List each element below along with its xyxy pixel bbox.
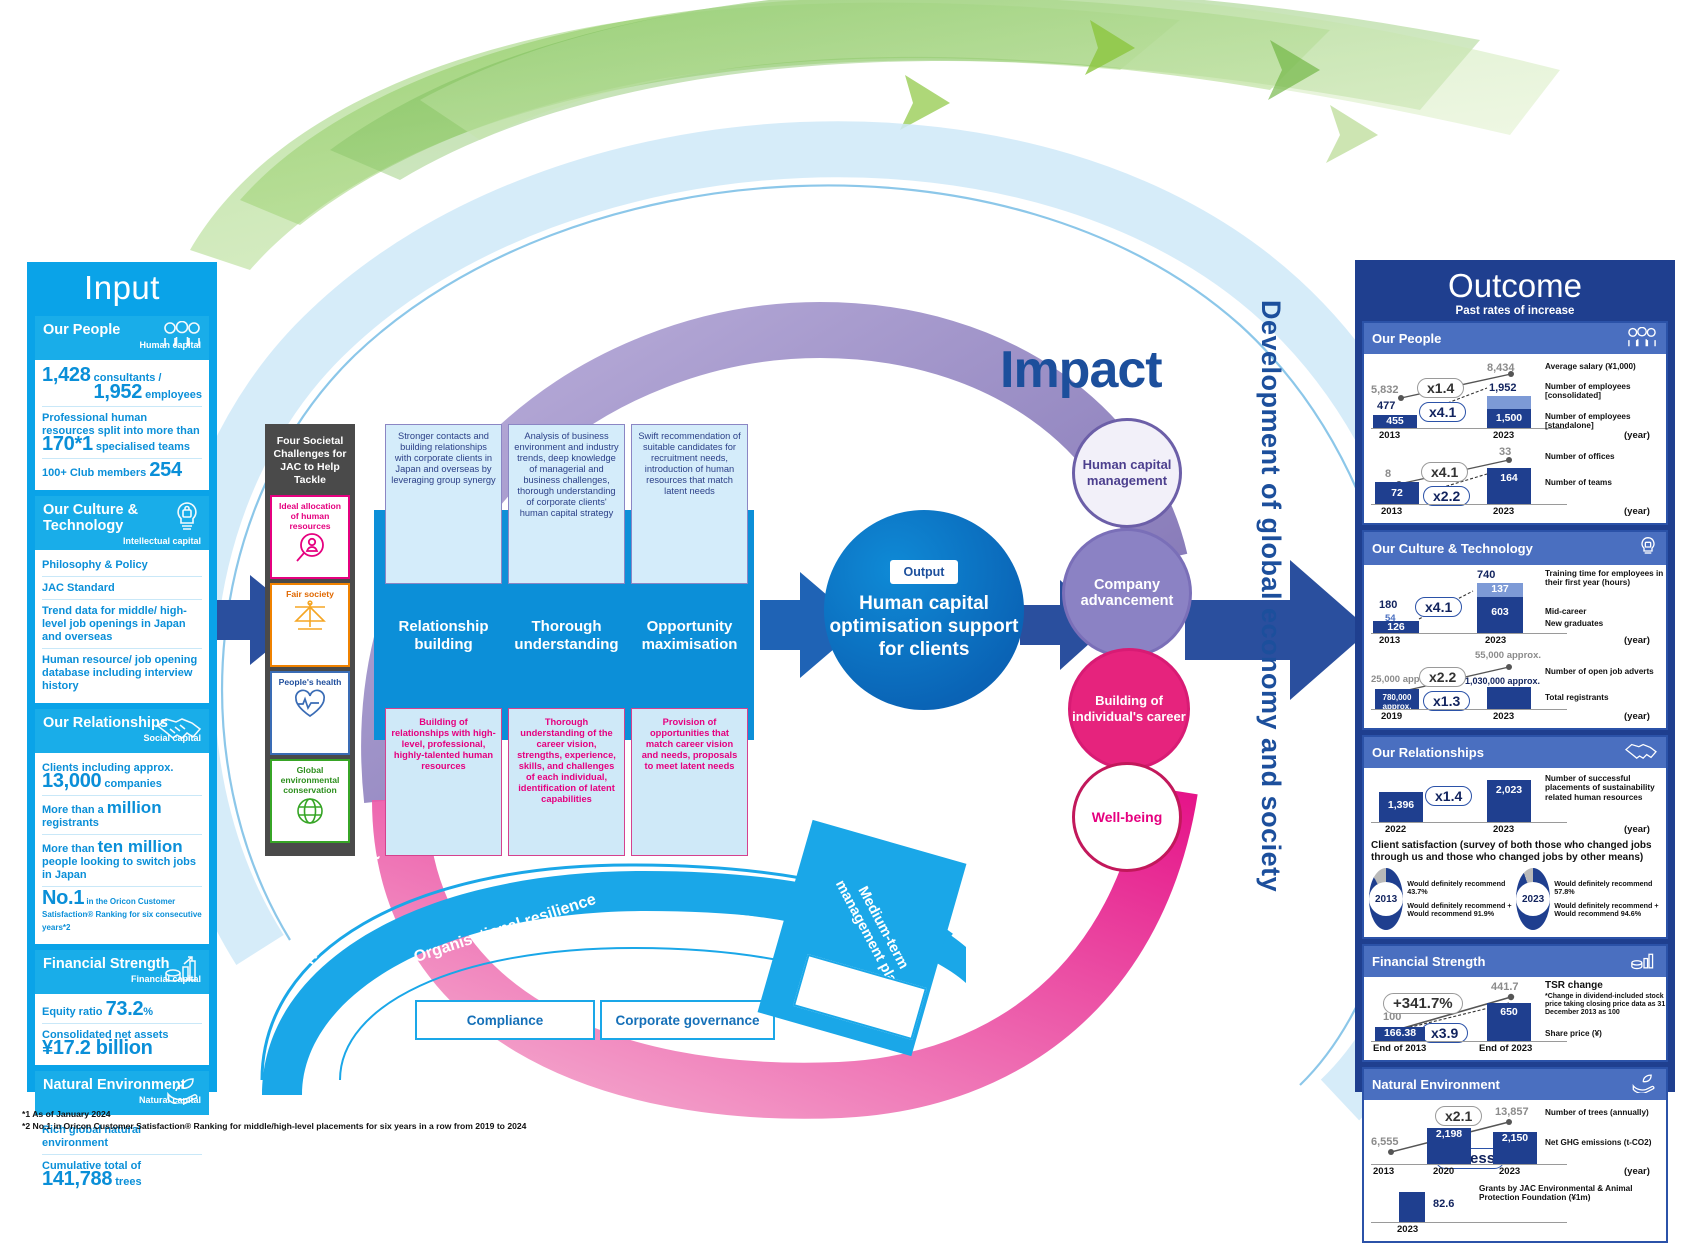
bar-end-2013: 166.38 xyxy=(1375,1027,1425,1041)
impact-building-of-individuals-career: Building of individual's career xyxy=(1068,648,1190,770)
footnote-2: *2 No.1 in Oricon Customer Satisfaction®… xyxy=(22,1120,526,1132)
chart-adverts-registrants: 25,000 approx. 55,000 approx. x2.2 x1.3 … xyxy=(1369,651,1661,725)
outcome-subtitle: Past rates of increase xyxy=(1362,305,1668,321)
legend-entry: Number of open job adverts xyxy=(1545,667,1670,676)
process-label-opportunity-maximisation: Opportunity maximisation xyxy=(631,618,748,654)
x-tick: 2020 xyxy=(1433,1166,1454,1177)
bar-chart-coins-icon xyxy=(1630,950,1658,973)
input-row: More than ten million people looking to … xyxy=(42,835,202,887)
x-tick: 2023 xyxy=(1493,711,1514,722)
input-row: Human resource/ job opening database inc… xyxy=(42,649,202,697)
label: More than a xyxy=(42,804,107,816)
bar-total-2023: 1,952 xyxy=(1489,382,1517,394)
impact-label: Well-being xyxy=(1092,809,1163,825)
value: No.1 xyxy=(42,887,84,909)
donut-group-2023: 2023 Would definitely recommend 57.8% Wo… xyxy=(1516,868,1661,930)
input-row: Trend data for middle/ high-level job op… xyxy=(42,600,202,649)
input-row: 1,428 consultants / 1,952 employees xyxy=(42,364,202,407)
bar-value: 126 xyxy=(1373,621,1419,633)
four-societal-challenges-panel: Four Societal Challenges for JAC to Help… xyxy=(265,424,355,856)
compliance-box: Compliance xyxy=(415,1000,595,1040)
legend-entry: TSR change xyxy=(1545,981,1670,990)
x-axis-label: (year) xyxy=(1624,430,1650,441)
unit: companies xyxy=(101,778,162,790)
lightbulb-lock-icon xyxy=(1638,536,1658,561)
outcome-panel: Outcome Past rates of increase Our Peopl… xyxy=(1355,260,1675,1092)
multiplier: x2.1 xyxy=(1435,1106,1482,1126)
input-row: Professional human resources split into … xyxy=(42,407,202,459)
bar-total-2013: 180 xyxy=(1379,599,1397,611)
input-row: Clients including approx. 13,000 compani… xyxy=(42,757,202,796)
x-tick: 2013 xyxy=(1373,1166,1394,1177)
heart-pulse-icon xyxy=(290,687,330,719)
multiplier: +341.7% xyxy=(1383,993,1463,1014)
development-of-global-economy-text: Development of global economy and societ… xyxy=(1228,300,1286,940)
multiplier: x4.1 xyxy=(1419,402,1466,422)
value: 1,428 xyxy=(42,364,91,386)
bar-value: 166.38 xyxy=(1375,1027,1425,1039)
x-tick: End of 2013 xyxy=(1373,1043,1426,1054)
x-axis-label: (year) xyxy=(1624,711,1650,722)
legend-entry: Number of teams xyxy=(1545,478,1670,487)
x-tick: 2023 xyxy=(1493,430,1514,441)
bar-2023-grants xyxy=(1399,1192,1425,1222)
legend-entry: Number of trees (annually) xyxy=(1545,1108,1670,1117)
x-tick: 2023 xyxy=(1485,635,1506,646)
chart-offices-teams: 8 33 x4.1 x2.2 72 164 2013 2023 (year) N… xyxy=(1369,446,1661,520)
input-row: Consolidated net assets ¥17.2 billion xyxy=(42,1024,202,1059)
input-row: 100+ Club members 254 xyxy=(42,459,202,484)
bar-2013: 455 xyxy=(1373,415,1417,428)
unit: registrants xyxy=(42,817,99,829)
unit: employees xyxy=(142,389,202,401)
card-header: Our Culture & Technology Intellectual ca… xyxy=(35,496,209,550)
footnote-1: *1 As of January 2024 xyxy=(22,1108,526,1120)
donut-2023: 2023 xyxy=(1516,868,1550,930)
multiplier: x1.3 xyxy=(1423,691,1470,711)
legend-note: *Change in dividend-included stock price… xyxy=(1545,993,1670,1017)
x-tick: 2023 xyxy=(1493,824,1514,835)
bar-total-2023: 1,030,000 approx. xyxy=(1465,677,1540,686)
bar-value: 82.6 xyxy=(1433,1198,1454,1210)
chart-trees-ghg: 13,857 6,555 x2.1 48 less 2,198 2,150 20… xyxy=(1369,1104,1661,1180)
outcome-card-title: Our Relationships xyxy=(1372,745,1484,760)
bar-value: 455 xyxy=(1373,415,1417,427)
bar-2013: 72 xyxy=(1375,482,1419,504)
x-tick: 2023 xyxy=(1499,1166,1520,1177)
value: 170*1 xyxy=(42,433,93,455)
x-axis-label: (year) xyxy=(1624,635,1650,646)
label: 100+ Club members xyxy=(42,467,149,479)
value: 73.2 xyxy=(106,998,144,1020)
outcome-card-natural-environment: Natural Environment 13,857 6,555 x2.1 48… xyxy=(1362,1067,1668,1243)
x-tick: 2013 xyxy=(1379,635,1400,646)
bar-end-2023: 650 xyxy=(1487,1003,1531,1041)
bar-chart-coins-icon xyxy=(164,955,202,988)
label: Equity ratio xyxy=(42,1006,106,1018)
challenges-title: Four Societal Challenges for JAC to Help… xyxy=(270,429,350,495)
chart-employees-salary: 5,832 8,434 x1.4 x4.1 477 455 1,952 1,50… xyxy=(1369,358,1661,444)
process-bottom-box-3: Provision of opportunities that match ca… xyxy=(631,708,748,856)
legend-entry: Average salary (¥1,000) xyxy=(1545,362,1670,371)
people-icon xyxy=(1626,327,1658,350)
bar-value: 1,396 xyxy=(1379,792,1423,811)
bar-total-2013: 477 xyxy=(1377,400,1395,412)
x-tick: 2023 xyxy=(1397,1224,1418,1235)
donut-legend-definitely: Would definitely recommend 57.8% xyxy=(1554,880,1661,896)
challenge-label: People's health xyxy=(277,677,344,687)
label: More than xyxy=(42,843,98,855)
multiplier: x2.2 xyxy=(1423,486,1470,506)
unit: people looking to switch jobs in Japan xyxy=(42,856,196,881)
chart-sustainability-placements: 1,396 2,023 x1.4 2022 2023 (year) Number… xyxy=(1369,772,1661,838)
legend-entry: Number of employees [standalone] xyxy=(1545,412,1670,431)
multiplier: x3.9 xyxy=(1421,1023,1468,1043)
impact-label: Human capital management xyxy=(1075,457,1179,489)
bar-value: 780,000 approx. xyxy=(1375,689,1419,711)
input-row: More than a million registrants xyxy=(42,796,202,835)
legend-entry: Number of offices xyxy=(1545,452,1670,461)
impact-label: Building of individual's career xyxy=(1071,693,1187,725)
process-top-box-3: Swift recommendation of suitable candida… xyxy=(631,424,748,584)
bar-2023: 164 xyxy=(1487,468,1531,504)
bar-2022: 1,396 xyxy=(1379,792,1423,822)
legend-entry: Mid-career xyxy=(1545,607,1670,616)
card-header: Our People Human capital xyxy=(35,316,209,360)
unit: % xyxy=(143,1006,153,1018)
x-tick: 2022 xyxy=(1385,824,1406,835)
input-card-our-culture-technology: Our Culture & Technology Intellectual ca… xyxy=(35,496,209,703)
outcome-card-header: Our People xyxy=(1364,323,1666,354)
x-axis-label: (year) xyxy=(1624,1166,1650,1177)
legend-entry: Number of employees [consolidated] xyxy=(1545,382,1670,401)
output-badge: Output xyxy=(890,560,959,584)
value: 1,952 xyxy=(94,381,143,403)
bar-2023 xyxy=(1487,687,1531,709)
outcome-card-header: Our Relationships xyxy=(1364,737,1666,768)
unit: specialised teams xyxy=(93,441,190,453)
donut-legend-combined: Would definitely recommend + Would recom… xyxy=(1554,902,1661,918)
multiplier: x2.2 xyxy=(1419,667,1466,687)
card-header: Financial Strength Financial capital xyxy=(35,950,209,994)
value: 254 xyxy=(149,459,181,481)
outcome-title: Outcome xyxy=(1362,267,1668,305)
scales-icon xyxy=(289,599,331,633)
impact-company-advancement: Company advancement xyxy=(1062,528,1192,658)
legend-entry: New graduates xyxy=(1545,619,1670,628)
process-text: Analysis of business environment and ind… xyxy=(509,425,624,525)
value: ¥17.2 billion xyxy=(42,1042,202,1055)
input-row: JAC Standard xyxy=(42,577,202,600)
spacer xyxy=(280,935,410,1040)
outcome-card-header: Financial Strength xyxy=(1364,946,1666,977)
impact-human-capital-management: Human capital management xyxy=(1072,418,1182,528)
bar-2013-new-graduates: 126 xyxy=(1373,621,1419,633)
bar-value: 1,500 xyxy=(1487,409,1531,424)
bar-value: 2,023 xyxy=(1487,780,1531,796)
input-row: Philosophy & Policy xyxy=(42,554,202,577)
outcome-card-culture-technology: Our Culture & Technology 740 137 603 x4.… xyxy=(1362,530,1668,730)
challenge-fair-society: Fair society xyxy=(270,583,350,667)
chart-tsr-share-price: 441.7 100 +341.7% x3.9 166.38 650 End of… xyxy=(1369,981,1661,1057)
challenge-peoples-health: People's health xyxy=(270,671,350,755)
outcome-card-header: Our Culture & Technology xyxy=(1364,532,1666,565)
value: 13,000 xyxy=(42,770,101,792)
donut-legend-definitely: Would definitely recommend 43.7% xyxy=(1407,880,1514,896)
process-text: Building of relationships with high-leve… xyxy=(386,709,501,780)
multiplier: x4.1 xyxy=(1421,462,1468,482)
input-card-financial-strength: Financial Strength Financial capital Equ… xyxy=(35,950,209,1065)
legend-entry: Share price (¥) xyxy=(1545,1029,1670,1038)
card-header: Our Relationships Social capital xyxy=(35,709,209,753)
process-top-box-1: Stronger contacts and building relations… xyxy=(385,424,502,584)
input-row: Equity ratio 73.2% xyxy=(42,998,202,1024)
x-axis-label: (year) xyxy=(1624,506,1650,517)
bar-2023-standalone: 1,500 xyxy=(1487,409,1531,428)
legend-entry: Grants by JAC Environmental & Animal Pro… xyxy=(1479,1184,1669,1203)
multiplier: x1.4 xyxy=(1417,378,1464,398)
leaf-hand-icon xyxy=(164,1076,202,1109)
people-icon xyxy=(162,321,202,352)
x-tick: 2023 xyxy=(1493,506,1514,517)
leaf-hand-icon xyxy=(1630,1073,1658,1096)
process-bottom-box-1: Building of relationships with high-leve… xyxy=(385,708,502,856)
bar-2019: 780,000 approx. xyxy=(1375,689,1419,709)
legend-entry: Total registrants xyxy=(1545,693,1670,702)
process-text: Provision of opportunities that match ca… xyxy=(632,709,747,780)
outcome-card-our-relationships: Our Relationships 1,396 2,023 x1.4 2022 … xyxy=(1362,735,1668,939)
impact-label: Company advancement xyxy=(1065,577,1189,609)
process-label-thorough-understanding: Thorough understanding xyxy=(508,618,625,654)
bar-value: 2,198 xyxy=(1427,1128,1471,1140)
chart-foundation-grants: 82.6 2023 Grants by JAC Environmental & … xyxy=(1369,1180,1661,1238)
footnotes: *1 As of January 2024 *2 No.1 in Oricon … xyxy=(22,1108,526,1132)
bar-value: 2,150 xyxy=(1493,1132,1537,1144)
chart-training-time: 740 137 603 x4.1 180 54 126 2013 2023 xyxy=(1369,569,1661,649)
handshake-icon xyxy=(156,714,202,747)
outcome-card-header: Natural Environment xyxy=(1364,1069,1666,1100)
globe-icon xyxy=(294,795,326,827)
challenge-global-environmental-conservation: Global environmental conservation xyxy=(270,759,350,843)
multiplier: x4.1 xyxy=(1415,597,1462,617)
x-tick: 2019 xyxy=(1381,711,1402,722)
x-tick: 2013 xyxy=(1379,430,1400,441)
outcome-card-our-people: Our People 5,832 8,434 x1.4 x4.1 477 xyxy=(1362,321,1668,525)
input-card-natural-environment: Natural Environment Natural capital Rich… xyxy=(35,1071,209,1199)
input-card-our-relationships: Our Relationships Social capital Clients… xyxy=(35,709,209,944)
bar-2023-consolidated xyxy=(1487,396,1531,409)
bar-value: 650 xyxy=(1487,1003,1531,1018)
outcome-card-title: Our Culture & Technology xyxy=(1372,541,1533,556)
magnifier-person-icon xyxy=(293,531,327,565)
input-card-our-people: Our People Human capital 1,428 consultan… xyxy=(35,316,209,490)
donut-legend-combined: Would definitely recommend + Would recom… xyxy=(1407,902,1514,918)
impact-heading: Impact xyxy=(1000,340,1162,400)
legend-entry: Training time for employees in their fir… xyxy=(1545,569,1670,588)
donut-2013: 2013 xyxy=(1369,868,1403,930)
lightbulb-lock-icon xyxy=(172,501,202,538)
process-label-relationship-building: Relationship building xyxy=(385,618,502,654)
bar-value: 72 xyxy=(1375,482,1419,499)
impact-well-being: Well-being xyxy=(1072,762,1182,872)
unit: trees xyxy=(112,1176,141,1188)
donut-year: 2023 xyxy=(1516,882,1550,916)
donut-group-2013: 2013 Would definitely recommend 43.7% Wo… xyxy=(1369,868,1514,930)
value: ten million xyxy=(98,837,183,856)
bar-value: 164 xyxy=(1487,468,1531,484)
outcome-card-title: Natural Environment xyxy=(1372,1077,1500,1092)
output-circle: Output Human capital optimisation suppor… xyxy=(824,510,1024,710)
value: million xyxy=(107,798,162,817)
challenge-ideal-allocation: Ideal allocation of human resources xyxy=(270,495,350,579)
input-row: Cumulative total of 141,788 trees xyxy=(42,1155,202,1193)
outcome-card-financial-strength: Financial Strength 441.7 100 +341.7% x3.… xyxy=(1362,944,1668,1062)
multiplier: x1.4 xyxy=(1425,786,1472,806)
handshake-icon xyxy=(1624,741,1658,764)
corporate-governance-box: Corporate governance xyxy=(600,1000,775,1040)
challenge-label: Global environmental conservation xyxy=(272,765,348,795)
outcome-card-title: Financial Strength xyxy=(1372,954,1485,969)
x-tick: 2013 xyxy=(1381,506,1402,517)
x-axis-label: (year) xyxy=(1624,824,1650,835)
process-text: Thorough understanding of the career vis… xyxy=(509,709,624,813)
satisfaction-caption: Client satisfaction (survey of both thos… xyxy=(1369,838,1661,868)
bar-2023: 2,150 xyxy=(1493,1132,1537,1164)
input-row: No.1 in the Oricon Customer Satisfaction… xyxy=(42,887,202,938)
input-title: Input xyxy=(35,268,209,310)
output-text: Human capital optimisation support for c… xyxy=(824,592,1024,661)
legend-entry: Number of successful placements of susta… xyxy=(1545,774,1670,802)
process-bottom-box-2: Thorough understanding of the career vis… xyxy=(508,708,625,856)
process-text: Stronger contacts and building relations… xyxy=(386,425,501,492)
process-text: Swift recommendation of suitable candida… xyxy=(632,425,747,503)
outcome-card-title: Our People xyxy=(1372,331,1441,346)
bar-2023: 2,023 xyxy=(1487,780,1531,822)
value: 141,788 xyxy=(42,1168,112,1190)
bar-2020: 2,198 xyxy=(1427,1128,1471,1164)
donut-year: 2013 xyxy=(1369,882,1403,916)
challenge-label: Fair society xyxy=(284,589,336,599)
legend-entry: Net GHG emissions (t-CO2) xyxy=(1545,1138,1670,1147)
input-column: Input Our People Human capital 1,428 con… xyxy=(27,262,217,1092)
challenge-label: Ideal allocation of human resources xyxy=(272,501,348,531)
process-top-box-2: Analysis of business environment and ind… xyxy=(508,424,625,584)
infographic-canvas: Input Our People Human capital 1,428 con… xyxy=(0,0,1700,1249)
x-tick: End of 2023 xyxy=(1479,1043,1532,1054)
